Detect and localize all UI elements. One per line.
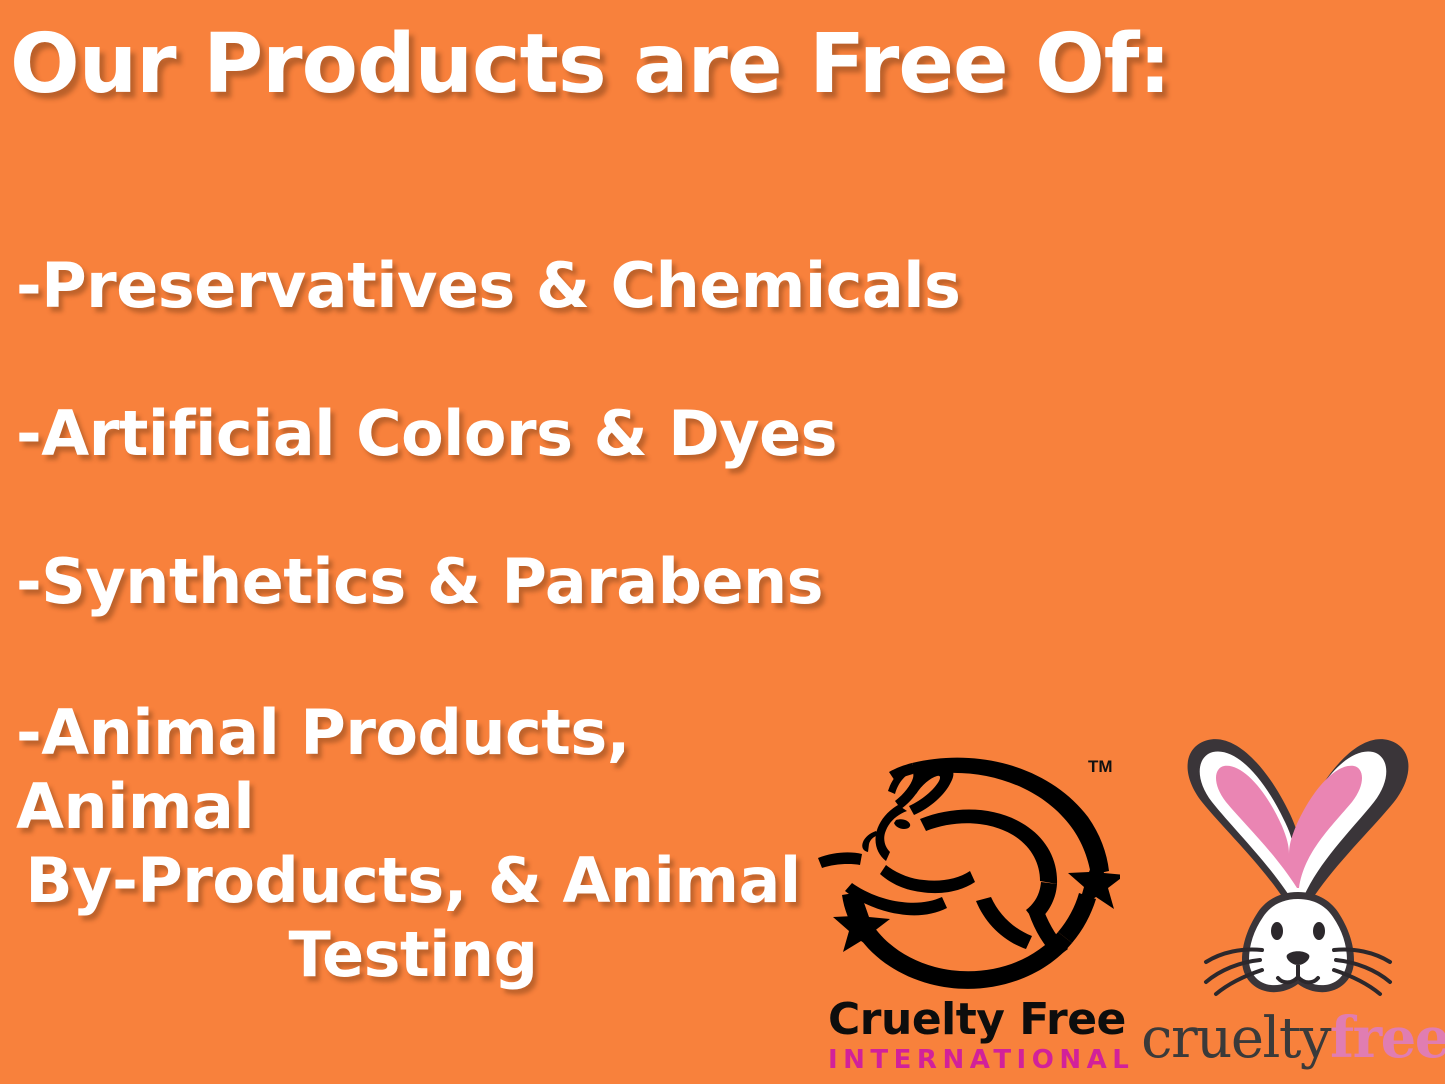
list-item: -Preservatives & Chemicals <box>0 252 880 320</box>
logo-name-cruelty-free: Cruelty Free <box>828 997 1098 1043</box>
wordmark-cruelty: cruelty <box>1141 1006 1330 1071</box>
list-item-line-1: -Animal Products, Animal <box>16 696 880 844</box>
list-item-line-2: By-Products, & Animal <box>16 844 880 918</box>
list-item-line-3: Testing <box>16 918 880 992</box>
cruelty-free-international-logo: TM Cruelty Free INTERNATIONAL <box>800 745 1120 1084</box>
peta-logo-wordmark: crueltyfree <box>1140 1008 1445 1069</box>
free-of-list: -Preservatives & Chemicals -Artificial C… <box>0 252 880 992</box>
leaping-bunny-icon <box>800 745 1120 995</box>
page-title: Our Products are Free Of: <box>10 24 1210 106</box>
list-item: -Animal Products, Animal By-Products, & … <box>0 696 880 992</box>
heart-ears-bunny-icon <box>1150 722 1445 1012</box>
peta-cruelty-free-logo: crueltyfree <box>1150 722 1445 1084</box>
wordmark-free: free <box>1330 1005 1445 1071</box>
list-item: -Synthetics & Parabens <box>0 548 880 616</box>
slide-canvas: Our Products are Free Of: -Preservatives… <box>0 0 1445 1084</box>
list-item: -Artificial Colors & Dyes <box>0 400 880 468</box>
logo-subtitle-international: INTERNATIONAL <box>828 1045 1098 1075</box>
trademark-symbol: TM <box>1088 757 1113 777</box>
